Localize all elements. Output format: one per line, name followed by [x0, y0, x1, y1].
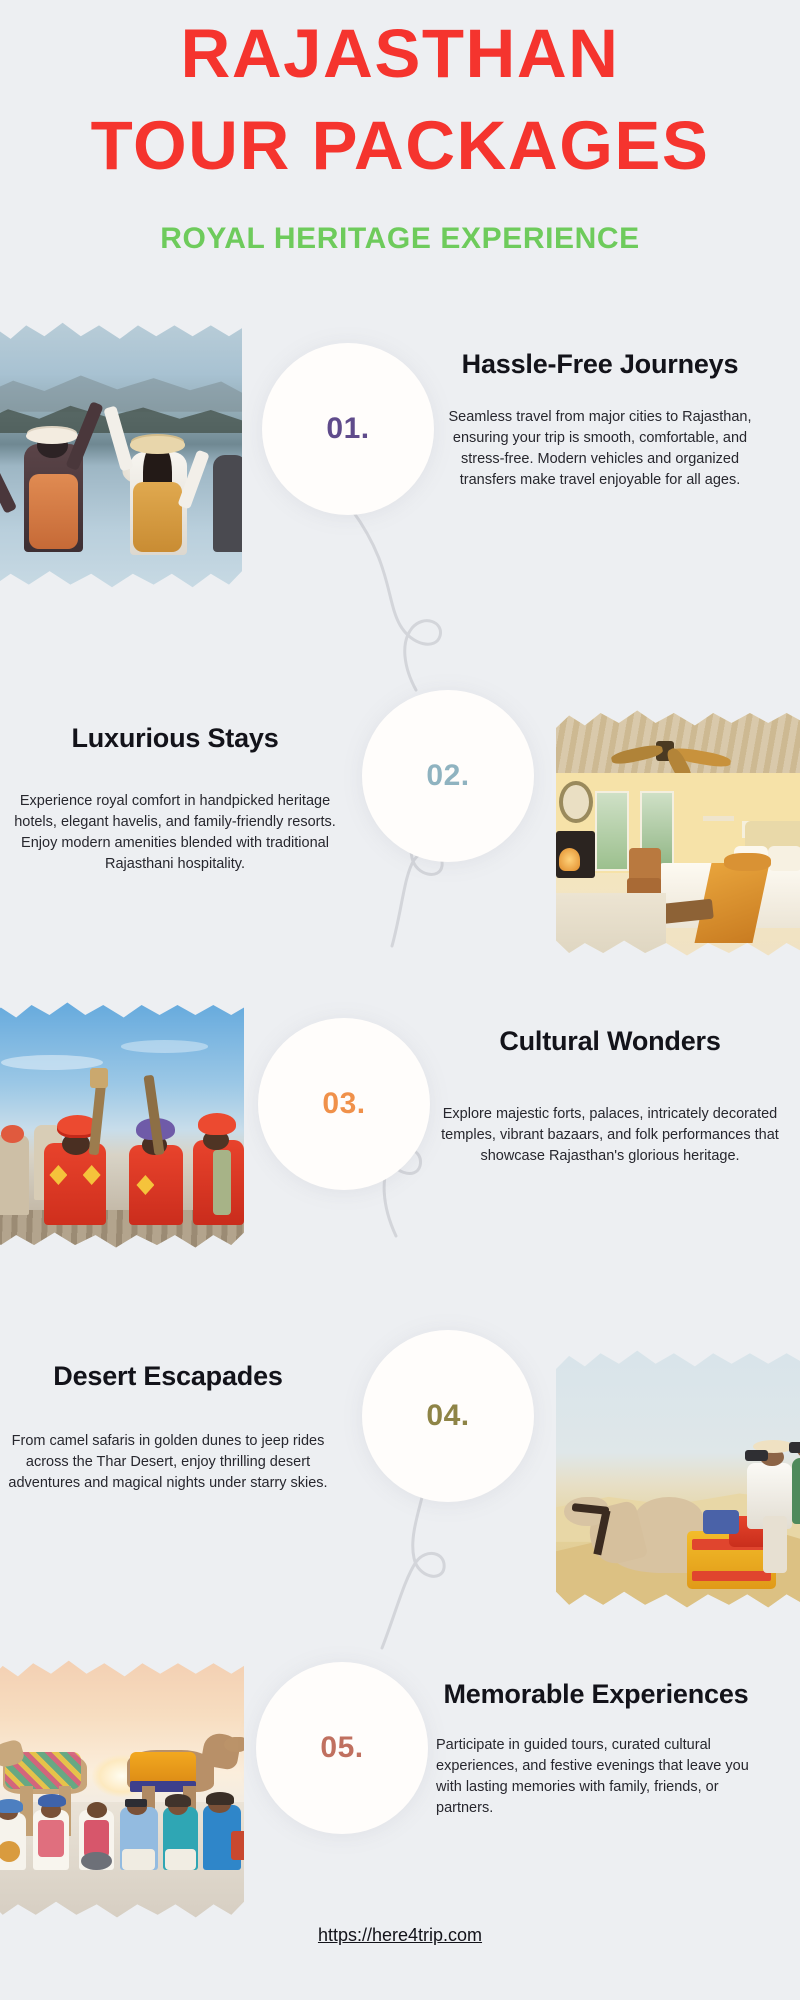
section-02-text: Luxurious Stays Experience royal comfort…	[10, 722, 340, 875]
section-02-title: Luxurious Stays	[10, 722, 340, 755]
section-04-number-badge: 04.	[362, 1330, 534, 1502]
page-title-line-1: RAJASTHAN	[0, 8, 800, 100]
section-03-title: Cultural Wonders	[440, 1025, 780, 1058]
header: RAJASTHAN TOUR PACKAGES ROYAL HERITAGE E…	[0, 0, 800, 256]
section-05-title: Memorable Experiences	[436, 1678, 756, 1711]
page-title-line-2: TOUR PACKAGES	[0, 100, 800, 192]
section-04-text: Desert Escapades From camel safaris in g…	[8, 1360, 328, 1494]
section-03-photo	[0, 1000, 244, 1250]
section-01-title: Hassle-Free Journeys	[440, 348, 760, 381]
section-04-title: Desert Escapades	[8, 1360, 328, 1393]
footer: https://here4trip.com	[0, 1925, 800, 1946]
section-04-body: From camel safaris in golden dunes to je…	[8, 1431, 328, 1494]
section-05-number: 05.	[320, 1731, 363, 1765]
section-05-body: Participate in guided tours, curated cul…	[436, 1735, 756, 1819]
section-04-number: 04.	[426, 1399, 469, 1433]
section-02-number: 02.	[426, 759, 469, 793]
section-01-number: 01.	[326, 412, 369, 446]
section-04-photo	[556, 1348, 800, 1610]
section-05-text: Memorable Experiences Participate in gui…	[436, 1678, 756, 1819]
infographic-page: RAJASTHAN TOUR PACKAGES ROYAL HERITAGE E…	[0, 0, 800, 2000]
section-03-body: Explore majestic forts, palaces, intrica…	[440, 1104, 780, 1167]
section-03-number: 03.	[322, 1087, 365, 1121]
section-02-photo	[556, 708, 800, 958]
section-01-body: Seamless travel from major cities to Raj…	[440, 407, 760, 491]
website-url-link[interactable]: https://here4trip.com	[318, 1925, 482, 1945]
section-01-photo	[0, 320, 242, 590]
page-subtitle: ROYAL HERITAGE EXPERIENCE	[0, 222, 800, 256]
section-02-body: Experience royal comfort in handpicked h…	[10, 791, 340, 875]
section-05-number-badge: 05.	[256, 1662, 428, 1834]
section-05-photo	[0, 1658, 244, 1920]
section-01-text: Hassle-Free Journeys Seamless travel fro…	[440, 348, 760, 491]
section-01-number-badge: 01.	[262, 343, 434, 515]
section-02-number-badge: 02.	[362, 690, 534, 862]
section-03-number-badge: 03.	[258, 1018, 430, 1190]
section-03-text: Cultural Wonders Explore majestic forts,…	[440, 1025, 780, 1167]
